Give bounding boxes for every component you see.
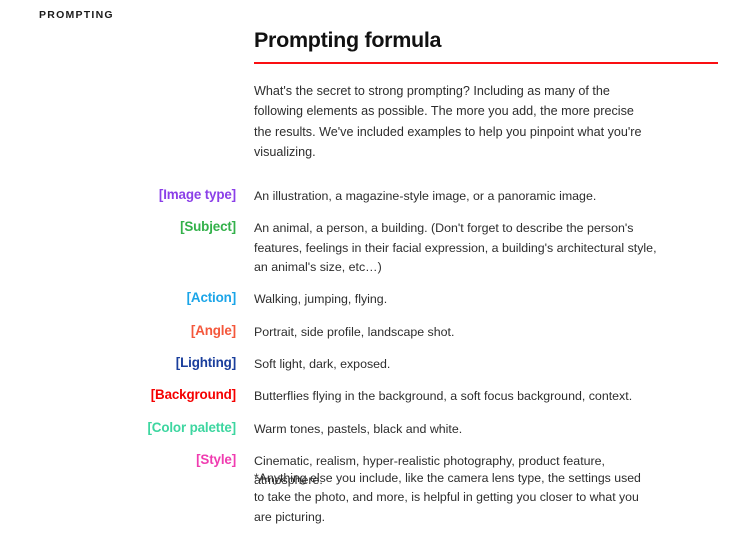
formula-row: [Color palette]Warm tones, pastels, blac… <box>0 419 750 439</box>
formula-row-description: An animal, a person, a building. (Don't … <box>254 218 664 277</box>
page-kicker: PROMPTING <box>39 9 114 21</box>
formula-row-description: Butterflies flying in the background, a … <box>254 386 664 406</box>
formula-row: [Image type]An illustration, a magazine-… <box>0 186 750 206</box>
intro-paragraph: What's the secret to strong prompting? I… <box>254 81 654 163</box>
formula-row-label: [Image type] <box>159 187 236 202</box>
formula-row-label-cell: [Action] <box>0 289 236 307</box>
page-title: Prompting formula <box>254 28 718 53</box>
formula-row: [Angle]Portrait, side profile, landscape… <box>0 322 750 342</box>
content-column: Prompting formula What's the secret to s… <box>254 28 718 175</box>
formula-row-label: [Subject] <box>180 219 236 234</box>
formula-row-label: [Action] <box>187 290 236 305</box>
formula-rows: [Image type]An illustration, a magazine-… <box>0 186 750 503</box>
formula-row-label: [Style] <box>196 452 236 467</box>
formula-row-label: [Angle] <box>191 323 236 338</box>
formula-row-description: Warm tones, pastels, black and white. <box>254 419 664 439</box>
formula-row-label: [Color palette] <box>147 420 236 435</box>
footnote-text: *Anything else you include, like the cam… <box>254 469 646 527</box>
formula-row: [Background]Butterflies flying in the ba… <box>0 386 750 406</box>
formula-row-label-cell: [Image type] <box>0 186 236 204</box>
title-divider <box>254 62 718 64</box>
formula-row-label: [Background] <box>151 387 236 402</box>
formula-row-label-cell: [Color palette] <box>0 419 236 437</box>
formula-row-label-cell: [Subject] <box>0 218 236 236</box>
formula-row-label-cell: [Angle] <box>0 322 236 340</box>
formula-row-label-cell: [Style] <box>0 451 236 469</box>
formula-row-label-cell: [Background] <box>0 386 236 404</box>
formula-row-label-cell: [Lighting] <box>0 354 236 372</box>
formula-row-description: Walking, jumping, flying. <box>254 289 664 309</box>
formula-row-description: An illustration, a magazine-style image,… <box>254 186 664 206</box>
formula-row-description: Portrait, side profile, landscape shot. <box>254 322 664 342</box>
formula-row: [Lighting]Soft light, dark, exposed. <box>0 354 750 374</box>
formula-row: [Action]Walking, jumping, flying. <box>0 289 750 309</box>
formula-row-label: [Lighting] <box>176 355 236 370</box>
formula-row-description: Soft light, dark, exposed. <box>254 354 664 374</box>
formula-row: [Subject]An animal, a person, a building… <box>0 218 750 277</box>
